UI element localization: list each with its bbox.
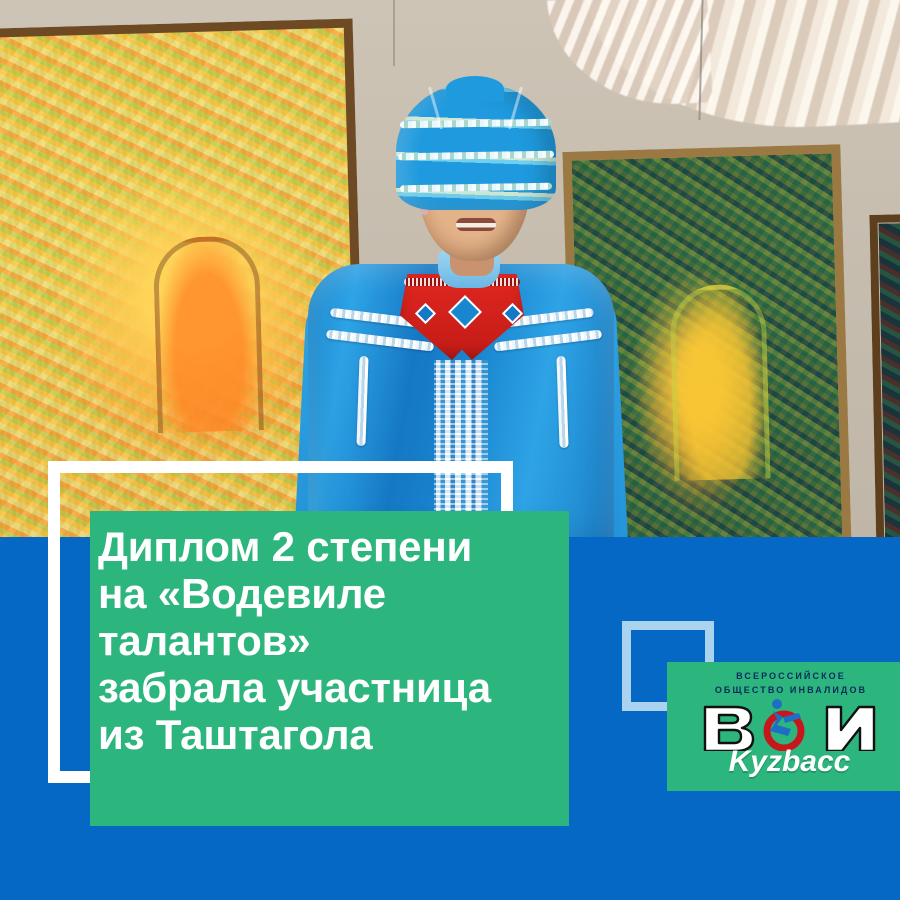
logo-region-label: Kyzbacc <box>687 745 892 779</box>
headline-box: Диплом 2 степени на «Водевиле талантов» … <box>90 511 569 826</box>
logo-org-line-1: ВСЕРОССИЙСКОЕ <box>691 670 891 684</box>
picture-hanging-wire-secondary <box>393 0 395 66</box>
announcement-card: Диплом 2 степени на «Водевиле талантов» … <box>0 0 900 900</box>
logo-organization-name: ВСЕРОССИЙСКОЕ ОБЩЕСТВО ИНВАЛИДОВ <box>691 670 891 698</box>
logo-org-line-2: ОБЩЕСТВО ИНВАЛИДОВ <box>691 684 891 698</box>
voi-kuzbass-logo: ВСЕРОССИЙСКОЕ ОБЩЕСТВО ИНВАЛИДОВ Kyzbacc <box>667 662 900 791</box>
logo-acronym-voi <box>687 699 892 751</box>
page-title: Диплом 2 степени на «Водевиле талантов» … <box>98 523 568 758</box>
costume-headdress-crown <box>446 76 504 102</box>
woman-mouth <box>456 218 496 231</box>
